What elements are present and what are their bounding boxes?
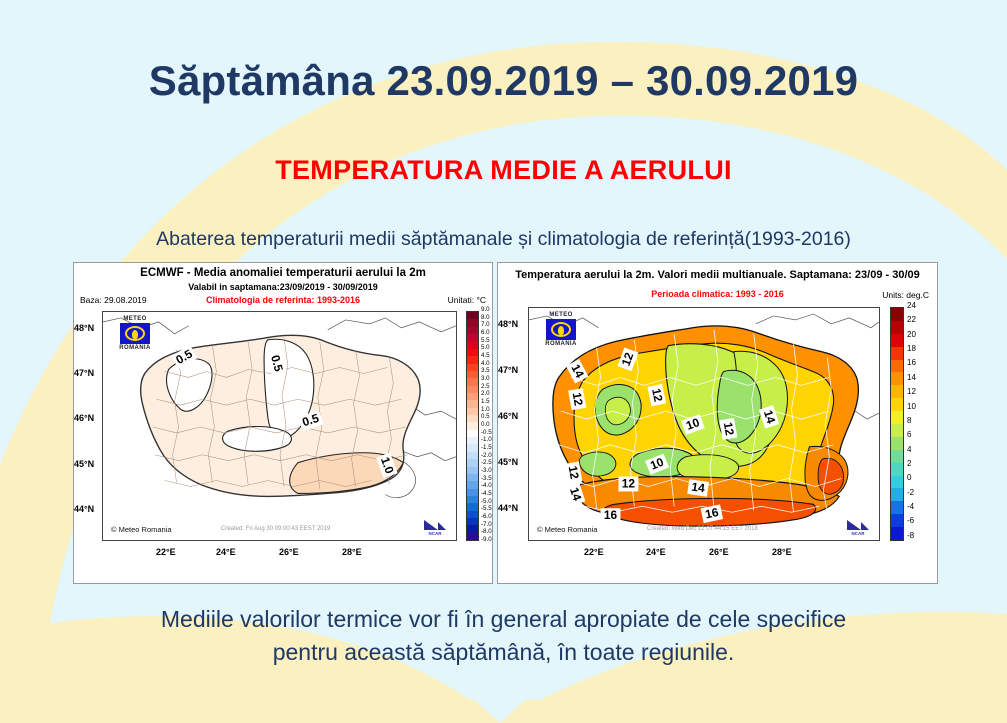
left-lat-tick-47: 47°N	[74, 368, 94, 378]
right-map-created-stamp: Created: Wed Dec 12 07:44:15 EET 2018	[647, 526, 758, 532]
subject-title: TEMPERATURA MEDIE A AERULUI	[0, 155, 1007, 186]
right-map-canvas: 14 12 12 12 10 12 14 12 10 12 14 14 16 1…	[528, 307, 880, 541]
right-lon-tick-24: 24°E	[646, 547, 666, 557]
right-colorbar-tick: -4	[907, 503, 929, 517]
right-colorbar-tick: 6	[907, 431, 929, 445]
slide-root: Săptămâna 23.09.2019 – 30.09.2019 TEMPER…	[0, 0, 1007, 723]
left-colorbar-swatch	[467, 437, 478, 444]
right-lat-tick-47: 47°N	[498, 365, 518, 375]
right-colorbar-swatch	[891, 347, 903, 360]
left-colorbar-swatch	[467, 356, 478, 363]
left-colorbar-swatch	[467, 481, 478, 488]
left-lon-tick-26: 26°E	[279, 547, 299, 557]
ncar-label-left: NCAR	[422, 531, 448, 536]
right-map-colorbar	[890, 307, 904, 541]
ncar-icon	[422, 518, 448, 532]
meteo-logo-mark	[120, 323, 150, 344]
left-colorbar-swatch	[467, 393, 478, 400]
left-lat-tick-44: 44°N	[74, 504, 94, 514]
left-colorbar-swatch	[467, 327, 478, 334]
left-colorbar-swatch	[467, 459, 478, 466]
left-map-colorbar-labels: 9.08.07.06.05.55.04.54.03.53.02.52.01.51…	[481, 307, 493, 545]
left-colorbar-swatch	[467, 349, 478, 356]
left-map-title-line1: ECMWF - Media anomaliei temperaturii aer…	[74, 267, 492, 279]
right-colorbar-swatch	[891, 385, 903, 398]
right-colorbar-swatch	[891, 372, 903, 385]
meteo-romania-logo-right: METEO ROMANIA	[537, 312, 585, 347]
right-lon-tick-22: 22°E	[584, 547, 604, 557]
left-map-canvas: 0.5 0.5 0.5 1.0	[102, 311, 457, 541]
right-colorbar-swatch	[891, 450, 903, 463]
left-colorbar-swatch	[467, 408, 478, 415]
right-map-copyright: © Meteo Romania	[537, 525, 598, 534]
svg-text:16: 16	[604, 508, 618, 522]
right-map-climatology-note: Perioada climatica: 1993 - 2016	[498, 289, 937, 299]
right-colorbar-swatch	[891, 411, 903, 424]
left-lat-tick-46: 46°N	[74, 413, 94, 423]
right-colorbar-swatch	[891, 398, 903, 411]
right-colorbar-tick: 18	[907, 345, 929, 359]
right-colorbar-swatch	[891, 488, 903, 501]
left-lat-tick-45: 45°N	[74, 459, 94, 469]
right-colorbar-swatch	[891, 514, 903, 527]
left-colorbar-swatch	[467, 378, 478, 385]
left-colorbar-swatch	[467, 422, 478, 429]
svg-text:12: 12	[721, 421, 737, 437]
caption-bottom-line2: pentru această săptămână, în toate regiu…	[0, 636, 1007, 669]
left-colorbar-swatch	[467, 371, 478, 378]
right-colorbar-swatch	[891, 308, 903, 321]
left-colorbar-swatch	[467, 533, 478, 540]
left-map-panel: ECMWF - Media anomaliei temperaturii aer…	[73, 262, 493, 584]
ncar-label-right: NCAR	[845, 531, 871, 536]
right-colorbar-swatch	[891, 527, 903, 540]
right-colorbar-swatch	[891, 476, 903, 489]
left-map-title-line2: Valabil in saptamana:23/09/2019 - 30/09/…	[74, 282, 492, 292]
left-lon-tick-24: 24°E	[216, 547, 236, 557]
left-colorbar-swatch	[467, 503, 478, 510]
left-colorbar-swatch	[467, 525, 478, 532]
left-map-colorbar	[466, 311, 479, 541]
ncar-icon-right	[845, 518, 871, 532]
meteo-logo-top-text-right: METEO	[537, 312, 585, 318]
right-colorbar-swatch	[891, 424, 903, 437]
ncar-logo-left: NCAR	[422, 518, 448, 536]
left-colorbar-swatch	[467, 341, 478, 348]
left-colorbar-swatch	[467, 489, 478, 496]
right-map-title-line1: Temperatura aerului la 2m. Valori medii …	[498, 269, 937, 281]
right-colorbar-tick: -2	[907, 489, 929, 503]
left-colorbar-swatch	[467, 444, 478, 451]
svg-text:12: 12	[622, 476, 636, 490]
left-colorbar-swatch	[467, 430, 478, 437]
left-colorbar-tick: -9.0	[481, 537, 493, 545]
meteo-logo-top-text: METEO	[111, 316, 159, 322]
left-colorbar-swatch	[467, 364, 478, 371]
page-title: Săptămâna 23.09.2019 – 30.09.2019	[0, 57, 1007, 105]
left-colorbar-swatch	[467, 518, 478, 525]
right-colorbar-swatch	[891, 321, 903, 334]
right-colorbar-tick: 16	[907, 359, 929, 373]
left-lon-tick-22: 22°E	[156, 547, 176, 557]
meteo-logo-mark-right	[546, 319, 576, 340]
left-colorbar-swatch	[467, 415, 478, 422]
left-colorbar-swatch	[467, 452, 478, 459]
right-colorbar-tick: 14	[907, 374, 929, 388]
right-colorbar-tick: 24	[907, 302, 929, 316]
right-colorbar-tick: 12	[907, 388, 929, 402]
right-lat-tick-44: 44°N	[498, 503, 518, 513]
right-colorbar-tick: 8	[907, 417, 929, 431]
right-colorbar-tick: -6	[907, 517, 929, 531]
svg-text:12: 12	[566, 465, 582, 481]
caption-bottom: Mediile valorilor termice vor fi în gene…	[0, 603, 1007, 668]
right-colorbar-tick: 0	[907, 474, 929, 488]
left-map-units-label: Unitati: °C	[448, 295, 486, 305]
left-map-copyright: © Meteo Romania	[111, 525, 172, 534]
right-map-panel: Temperatura aerului la 2m. Valori medii …	[497, 262, 938, 584]
caption-bottom-line1: Mediile valorilor termice vor fi în gene…	[0, 603, 1007, 636]
meteo-logo-bottom-text-right: ROMANIA	[537, 341, 585, 347]
left-colorbar-swatch	[467, 386, 478, 393]
left-colorbar-swatch	[467, 496, 478, 503]
left-colorbar-swatch	[467, 334, 478, 341]
right-colorbar-tick: 10	[907, 403, 929, 417]
left-colorbar-swatch	[467, 319, 478, 326]
caption-top: Abaterea temperaturii medii săptămanale …	[0, 228, 1007, 251]
ncar-logo-right: NCAR	[845, 518, 871, 536]
left-map-base-label: Baza: 29.08.2019	[80, 295, 147, 305]
left-map-created-stamp: Created: Fri Aug 30 09:00:43 EEST 2019	[221, 526, 330, 532]
right-lon-tick-28: 28°E	[772, 547, 792, 557]
right-map-colorbar-labels: 242220181614121086420-2-4-6-8	[907, 302, 929, 546]
right-map-units-label: Units: deg.C	[882, 290, 929, 300]
right-lat-tick-46: 46°N	[498, 411, 518, 421]
right-lat-tick-48: 48°N	[498, 319, 518, 329]
right-colorbar-tick: -8	[907, 532, 929, 546]
right-colorbar-tick: 2	[907, 460, 929, 474]
right-lon-tick-26: 26°E	[709, 547, 729, 557]
left-colorbar-swatch	[467, 400, 478, 407]
left-lat-tick-48: 48°N	[74, 323, 94, 333]
right-colorbar-swatch	[891, 360, 903, 373]
left-lon-tick-28: 28°E	[342, 547, 362, 557]
left-colorbar-swatch	[467, 312, 478, 319]
right-colorbar-swatch	[891, 437, 903, 450]
meteo-romania-logo-left: METEO ROMANIA	[111, 316, 159, 351]
right-colorbar-tick: 20	[907, 331, 929, 345]
right-lat-tick-45: 45°N	[498, 457, 518, 467]
right-colorbar-swatch	[891, 501, 903, 514]
right-colorbar-tick: 4	[907, 446, 929, 460]
left-colorbar-swatch	[467, 467, 478, 474]
right-colorbar-swatch	[891, 334, 903, 347]
left-colorbar-swatch	[467, 474, 478, 481]
left-colorbar-swatch	[467, 511, 478, 518]
right-colorbar-swatch	[891, 463, 903, 476]
meteo-logo-bottom-text: ROMANIA	[111, 345, 159, 351]
right-colorbar-tick: 22	[907, 316, 929, 330]
svg-text:14: 14	[691, 480, 706, 496]
svg-text:12: 12	[570, 391, 586, 407]
